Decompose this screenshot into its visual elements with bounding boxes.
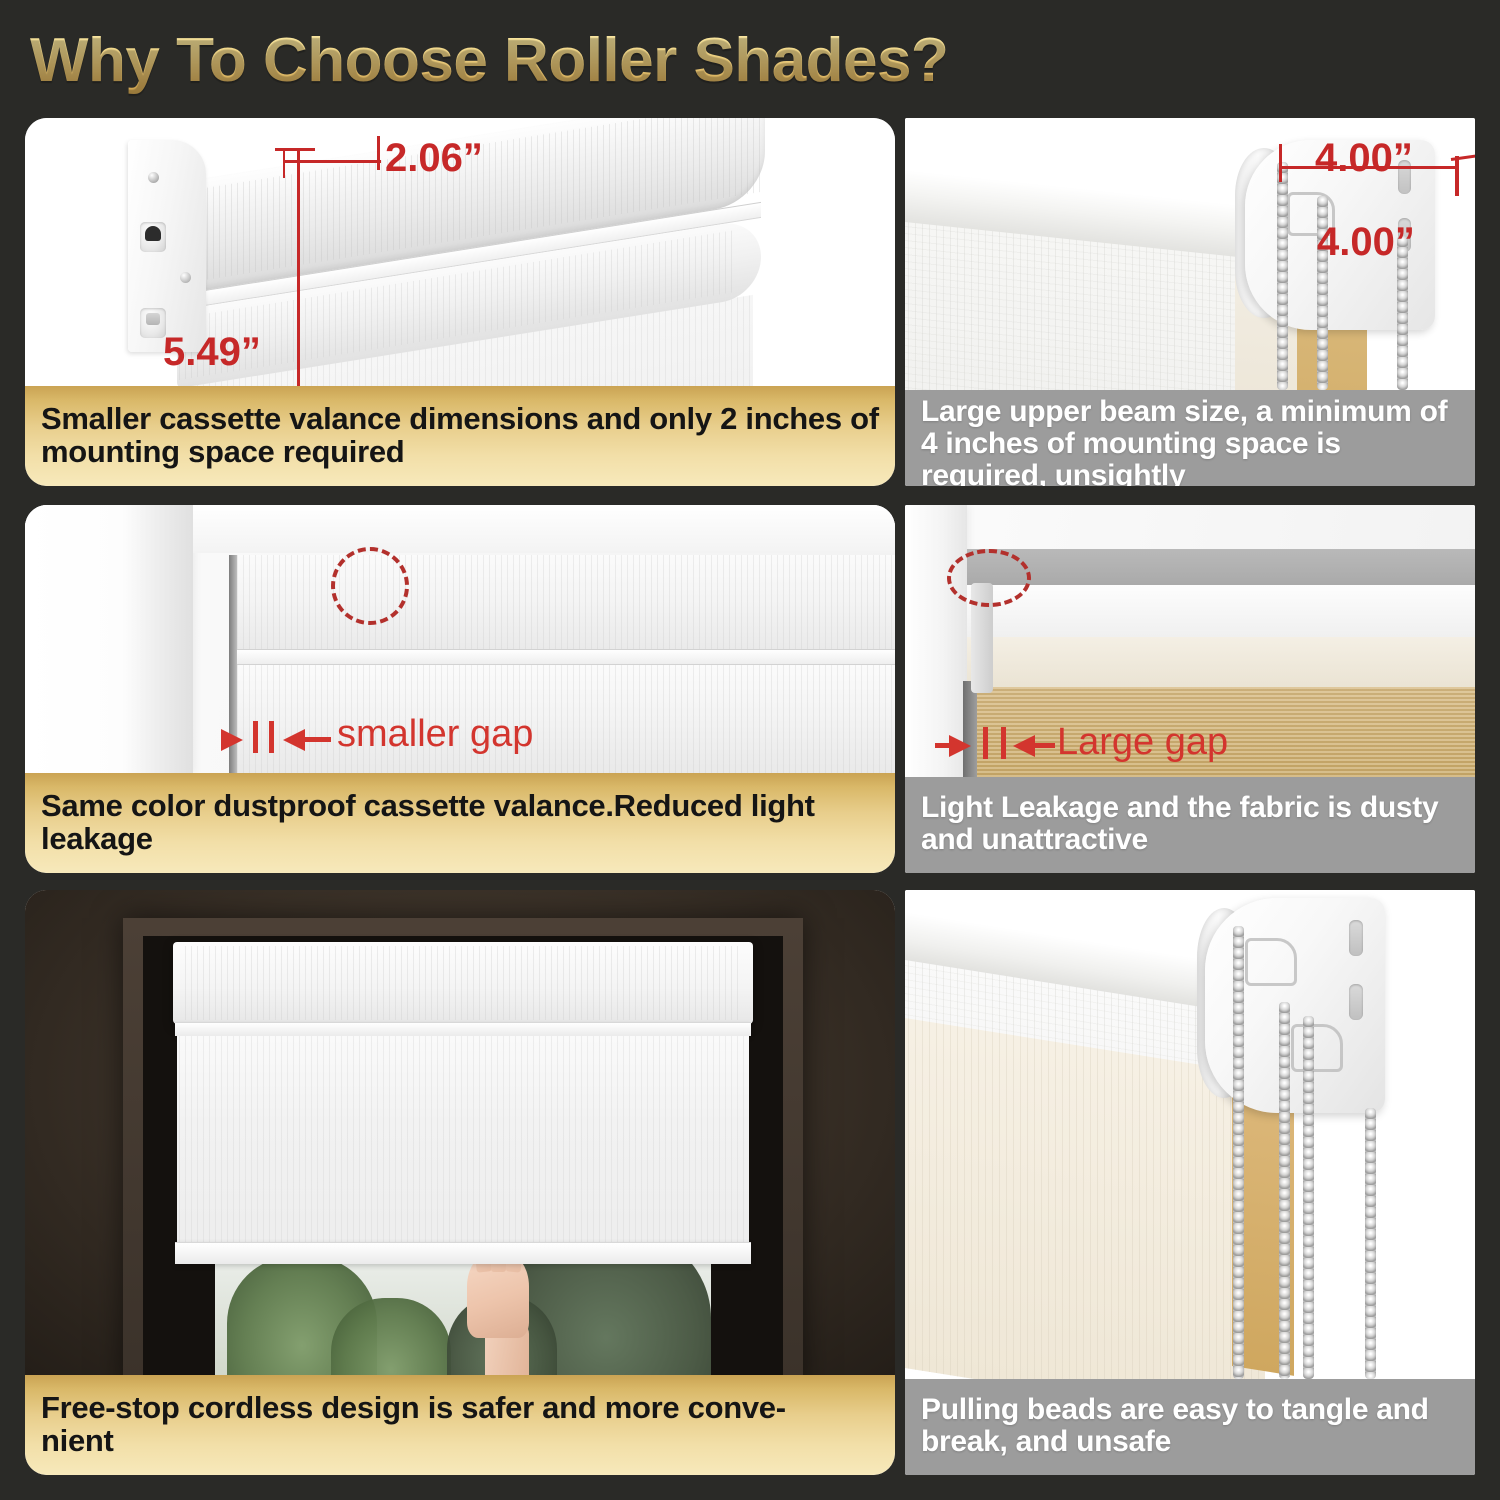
- scene-cassette-valance: [173, 942, 753, 1024]
- gap-tick-left: [983, 727, 988, 759]
- caption-text: Same color dustproof cassette valance.Re…: [41, 789, 879, 855]
- bracket-embossing-upper: [1245, 938, 1297, 986]
- beam-width-left-tick: [1279, 144, 1282, 182]
- shade-fabric-band: [235, 665, 895, 773]
- caption-smaller-gap: Same color dustproof cassette valance.Re…: [25, 773, 895, 873]
- scene-bottom-rail: [175, 1242, 751, 1264]
- end-cap-clutch: [140, 222, 166, 252]
- end-cap-screw-mid: [180, 272, 191, 283]
- beam-cream-face: [967, 637, 1475, 689]
- caption-large-beam: Large upper beam size, a minimum of 4 in…: [905, 390, 1475, 486]
- bracket-slot-upper: [1349, 920, 1363, 956]
- gap-tick-right: [1001, 727, 1006, 759]
- gap-tick-right: [269, 721, 274, 753]
- caption-text: Pulling beads are easy to tangle and bre…: [921, 1394, 1459, 1458]
- beam-height-label: 4.00”: [1317, 220, 1415, 265]
- gap-arrow-stem-right: [305, 737, 331, 742]
- caption-text: Smaller cassette valance dimensions and …: [41, 402, 879, 468]
- gap-arrow-right: [221, 729, 243, 751]
- large-beam-photo: 4.00” 4.00”: [905, 118, 1475, 390]
- scene-shade-fabric: [177, 1036, 749, 1254]
- window-head: [193, 505, 895, 553]
- gap-arrow-stem-right: [1035, 743, 1055, 748]
- gap-arrow-right: [949, 735, 971, 757]
- large-gap-label: Large gap: [1057, 721, 1228, 764]
- caption-cassette-dimensions: Smaller cassette valance dimensions and …: [25, 386, 895, 486]
- caption-text: Light Leakage and the fabric is dusty an…: [921, 792, 1459, 856]
- bead-chain-front: [1277, 162, 1288, 390]
- gap-highlight-circle: [331, 547, 409, 625]
- panel-smaller-gap: smaller gap Same color dustproof cassett…: [25, 505, 895, 873]
- panel-pulling-beads: Pulling beads are easy to tangle and bre…: [905, 890, 1475, 1475]
- pulling-beads-photo: [905, 890, 1475, 1379]
- beam-width-label: 4.00”: [1315, 136, 1413, 181]
- bracket-embossing-lower: [1291, 1024, 1343, 1072]
- bead-chain-1: [1233, 926, 1244, 1379]
- height-dim-line: [297, 148, 300, 386]
- caption-text: Large upper beam size, a minimum of 4 in…: [921, 396, 1459, 486]
- caption-text: Free-stop cordless design is safer and m…: [41, 1391, 786, 1457]
- cordless-room-photo: [25, 890, 895, 1375]
- panel-cordless-design: Free-stop cordless design is safer and m…: [25, 890, 895, 1475]
- height-dimension-label: 5.49”: [163, 330, 261, 375]
- large-gap-photo: Large gap: [905, 505, 1475, 777]
- bead-chain-4: [1365, 1108, 1376, 1379]
- caption-large-gap: Light Leakage and the fabric is dusty an…: [905, 777, 1475, 873]
- caption-cordless-design: Free-stop cordless design is safer and m…: [25, 1375, 895, 1475]
- panel-large-beam: 4.00” 4.00” Large upper beam size, a min…: [905, 118, 1475, 486]
- cassette-end-cap: [128, 140, 206, 352]
- width-dim-right-tick: [377, 136, 380, 170]
- bead-chain-3: [1303, 1016, 1314, 1379]
- large-gap-shadow: [963, 681, 977, 777]
- bead-chain-2: [1279, 1002, 1290, 1379]
- width-dim-left-tick: [283, 148, 285, 178]
- bracket-slot-lower: [1349, 984, 1363, 1020]
- room-scene: [25, 890, 895, 1375]
- width-dimension-label: 2.06”: [385, 136, 483, 181]
- panel-large-gap: Large gap Light Leakage and the fabric i…: [905, 505, 1475, 873]
- smaller-gap-label: smaller gap: [337, 713, 533, 756]
- window-jamb: [25, 505, 193, 773]
- infographic-root: Why To Choose Roller Shades? 2.06”: [0, 0, 1500, 1500]
- gap-arrow-left: [1013, 735, 1035, 757]
- caption-pulling-beads: Pulling beads are easy to tangle and bre…: [905, 1379, 1475, 1475]
- cassette-dimensions-photo: 2.06” 5.49”: [25, 118, 895, 386]
- height-dim-top-tick: [275, 148, 315, 151]
- scene-valance-lip: [175, 1022, 751, 1036]
- beads-bracket: [1205, 898, 1385, 1113]
- gap-highlight-circle: [947, 549, 1031, 607]
- end-cap-screw-top: [148, 172, 159, 183]
- panel-cassette-dimensions: 2.06” 5.49” Smaller cassette valance dim…: [25, 118, 895, 486]
- page-title: Why To Choose Roller Shades?: [30, 22, 1230, 100]
- beam-width-right-tick: [1455, 156, 1459, 196]
- beam-front-face: [967, 585, 1475, 641]
- valance-groove: [230, 649, 895, 665]
- beam-top-shadow: [967, 549, 1475, 587]
- gap-tick-left: [253, 721, 258, 753]
- smaller-gap-photo: smaller gap: [25, 505, 895, 773]
- gap-arrow-left: [283, 729, 305, 751]
